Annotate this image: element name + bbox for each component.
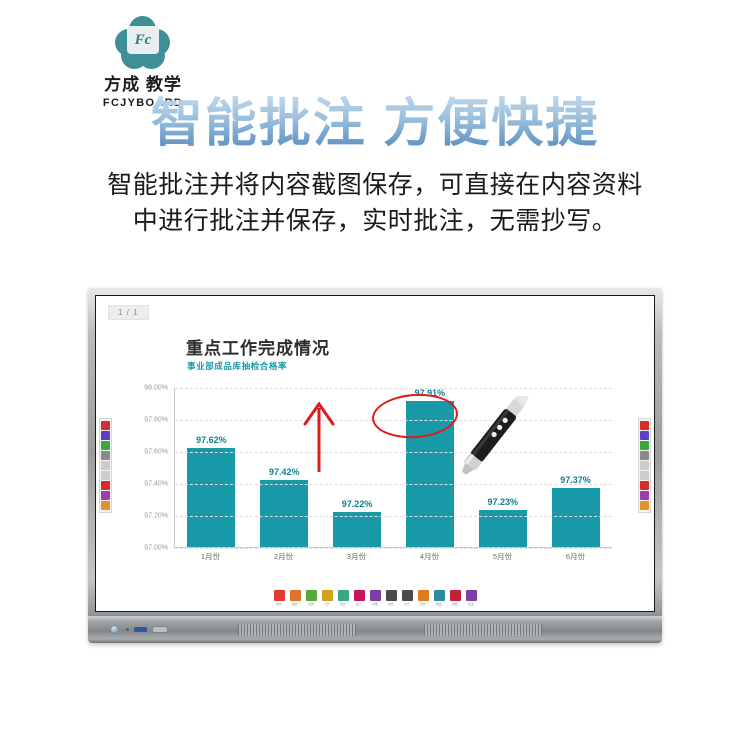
save-icon — [274, 590, 285, 601]
y-axis-tick: 97.80% — [144, 417, 168, 424]
eraser-icon[interactable] — [640, 451, 649, 460]
pen-icon — [370, 590, 381, 601]
description-line-1: 智能批注并将内容截图保存，可直接在内容资料 — [50, 168, 700, 204]
gridline — [175, 516, 612, 517]
toolbar-item-label: 打开 — [324, 602, 329, 606]
y-axis-tick: 98.00% — [144, 385, 168, 392]
help-button[interactable]: 帮助 — [448, 590, 462, 606]
x-axis-tick: 5月份 — [478, 551, 526, 562]
status-led-icon — [126, 628, 129, 631]
speaker-grille-right — [424, 624, 542, 636]
capture-icon[interactable] — [101, 501, 110, 510]
bar-value-label: 97.23% — [487, 497, 518, 507]
toolbar-item-label: 帮助 — [452, 602, 457, 606]
interactive-whiteboard: 1 / 1 重点工作完成情况 事业部成品库抽检合格率 98.00%97.80%9… — [88, 288, 662, 643]
gridline — [175, 388, 612, 389]
y-axis-tick: 97.00% — [144, 545, 168, 552]
bar — [552, 488, 600, 547]
left-tool-panel[interactable] — [99, 418, 112, 513]
display-screen[interactable]: 1 / 1 重点工作完成情况 事业部成品库抽检合格率 98.00%97.80%9… — [95, 295, 655, 612]
palette-icon[interactable] — [101, 441, 110, 450]
format-button[interactable]: 格式 — [336, 590, 350, 606]
toolbar-item-label: 对齐 — [404, 602, 409, 606]
x-axis-tick: 2月份 — [259, 551, 307, 562]
gridline — [175, 484, 612, 485]
palette-icon[interactable] — [640, 441, 649, 450]
y-axis-tick: 97.20% — [144, 513, 168, 520]
page-title: 智能批注 方便快捷 — [0, 92, 750, 157]
undo-icon[interactable] — [640, 461, 649, 470]
bar-item: 97.62% — [187, 388, 235, 547]
hdmi-port — [152, 626, 168, 633]
logo-monogram: Fc — [127, 26, 159, 54]
display-bezel: 1 / 1 重点工作完成情况 事业部成品库抽检合格率 98.00%97.80%9… — [88, 288, 662, 618]
shape-icon[interactable] — [640, 491, 649, 500]
x-axis: 1月份2月份3月份4月份5月份6月份 — [174, 551, 612, 562]
bar-value-label: 97.62% — [196, 435, 227, 445]
power-button[interactable] — [110, 625, 119, 634]
toolbar-item-label: 格式 — [340, 602, 345, 606]
chart-button[interactable]: 图表 — [432, 590, 446, 606]
undo-icon[interactable] — [101, 461, 110, 470]
align-icon — [402, 590, 413, 601]
device-chassis — [88, 616, 662, 643]
more-button[interactable]: 更多 — [464, 590, 478, 606]
y-axis-tick: 97.40% — [144, 481, 168, 488]
bar-item: 97.37% — [552, 388, 600, 547]
toolbar-item-label: 保存 — [276, 602, 281, 606]
promo-page: Fc 方成 教学 FCJYBOARD 智能批注 方便快捷 智能批注并将内容截图保… — [0, 0, 750, 736]
marker-icon[interactable] — [640, 421, 649, 430]
redo-icon[interactable] — [101, 471, 110, 480]
shapes-icon — [418, 590, 429, 601]
insert-button[interactable]: 插入 — [352, 590, 366, 606]
page-indicator: 1 / 1 — [108, 305, 149, 320]
usb-port — [134, 627, 147, 632]
bar-value-label: 97.42% — [269, 467, 300, 477]
shapes-button[interactable]: 形状 — [416, 590, 430, 606]
highlighter-icon[interactable] — [640, 431, 649, 440]
edit-button[interactable]: 编辑 — [288, 590, 302, 606]
x-axis-tick: 6月份 — [551, 551, 599, 562]
lines-button[interactable]: 线条 — [384, 590, 398, 606]
toolbar-item-label: 更多 — [468, 602, 473, 606]
chart-icon — [434, 590, 445, 601]
toolbar-item-label: 插入 — [356, 602, 361, 606]
x-axis-tick: 1月份 — [186, 551, 234, 562]
chart-subtitle: 事业部成品库抽检合格率 — [187, 360, 287, 372]
annotation-arrow-icon — [302, 396, 336, 472]
help-icon — [450, 590, 461, 601]
new-page-button[interactable]: 新建 — [304, 590, 318, 606]
save-button[interactable]: 保存 — [272, 590, 286, 606]
bar — [260, 480, 308, 547]
toolbar-item-label: 新建 — [308, 602, 313, 606]
eraser-icon[interactable] — [101, 451, 110, 460]
logo-flower-icon: Fc — [115, 16, 171, 66]
capture-icon[interactable] — [640, 501, 649, 510]
page-description: 智能批注并将内容截图保存，可直接在内容资料 中进行批注并保存，实时批注，无需抄写… — [50, 168, 700, 239]
gridline — [175, 548, 612, 549]
x-axis-tick: 4月份 — [405, 551, 453, 562]
more-icon — [466, 590, 477, 601]
toolbar-item-label: 画笔 — [372, 602, 377, 606]
x-axis-tick: 3月份 — [332, 551, 380, 562]
y-axis-tick: 97.60% — [144, 449, 168, 456]
open-icon — [322, 590, 333, 601]
highlighter-icon[interactable] — [101, 431, 110, 440]
insert-icon — [354, 590, 365, 601]
pen-button[interactable]: 画笔 — [368, 590, 382, 606]
right-tool-panel[interactable] — [638, 418, 651, 513]
bar — [187, 448, 235, 547]
chart-title: 重点工作完成情况 — [186, 334, 330, 359]
y-axis: 98.00%97.80%97.60%97.40%97.20%97.00% — [132, 388, 172, 548]
open-button[interactable]: 打开 — [320, 590, 334, 606]
redo-icon[interactable] — [640, 471, 649, 480]
marker-icon[interactable] — [101, 421, 110, 430]
new-page-icon — [306, 590, 317, 601]
toolbar-item-label: 形状 — [420, 602, 425, 606]
toolbar-item-label: 图表 — [436, 602, 441, 606]
align-button[interactable]: 对齐 — [400, 590, 414, 606]
toolbar-item-label: 线条 — [388, 602, 393, 606]
stylus-pen — [444, 396, 536, 482]
description-line-2: 中进行批注并保存，实时批注，无需抄写。 — [50, 204, 700, 240]
bar — [333, 512, 381, 547]
bar-value-label: 97.22% — [342, 499, 373, 509]
screen-bottom-toolbar[interactable]: 保存编辑新建打开格式插入画笔线条对齐形状图表帮助更多 — [272, 590, 478, 606]
shape-icon[interactable] — [101, 491, 110, 500]
speaker-grille-left — [238, 624, 356, 636]
lines-icon — [386, 590, 397, 601]
format-icon — [338, 590, 349, 601]
edit-icon — [290, 590, 301, 601]
toolbar-item-label: 编辑 — [292, 602, 297, 606]
gridline — [175, 452, 612, 453]
delete-icon[interactable] — [640, 481, 649, 490]
delete-icon[interactable] — [101, 481, 110, 490]
